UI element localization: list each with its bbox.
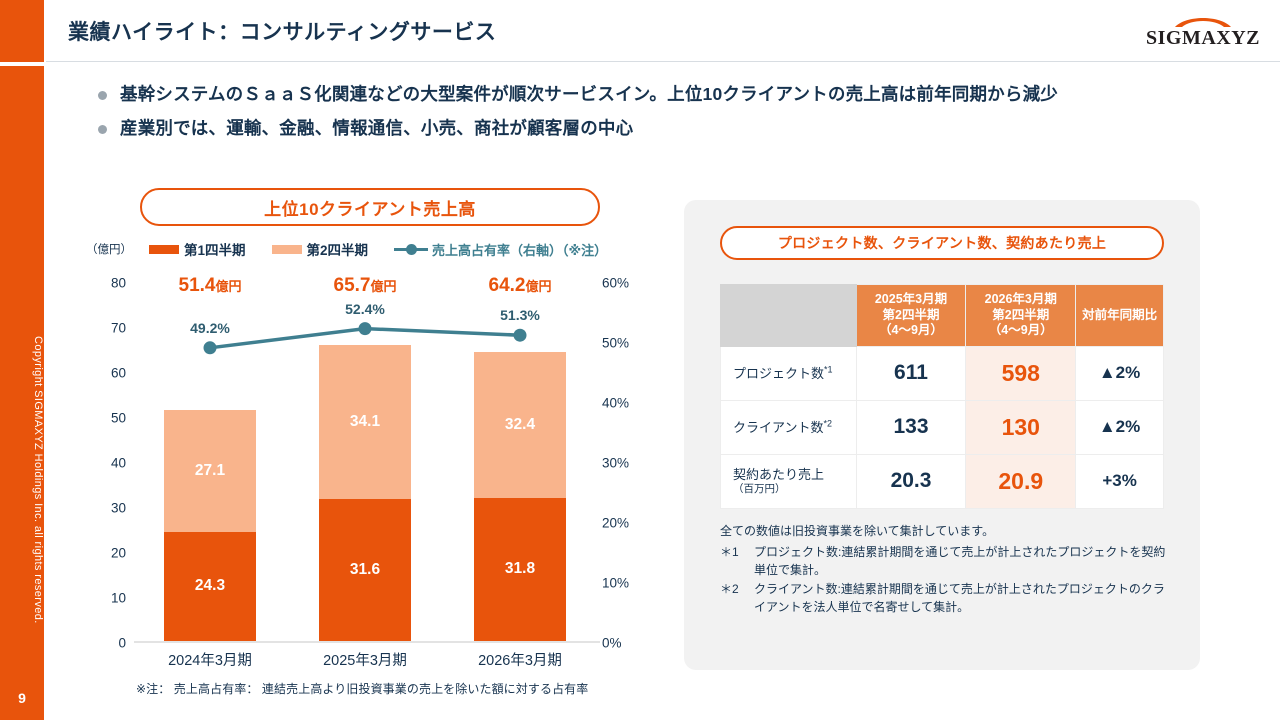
left-rail-top-block: [0, 0, 44, 62]
cell-prev-value: 20.3: [856, 454, 966, 508]
y-axis-left-tick: 20: [92, 546, 126, 561]
note-key: ＊2: [720, 580, 754, 617]
y-axis-left: 01020304050607080: [86, 283, 126, 643]
metrics-panel: プロジェクト数、クライアント数、契約あたり売上 2025年3月期 第2四半期 （…: [684, 200, 1200, 670]
chart-legend: （億円） 第1四半期 第2四半期 売上高占有率（右軸）（※注）: [86, 238, 646, 260]
chart-unit-label: （億円）: [86, 241, 132, 257]
bullet-text: 産業別では、運輸、金融、情報通信、小売、商社が顧客層の中心: [120, 116, 633, 141]
metrics-table: 2025年3月期 第2四半期 （4～9月） 2026年3月期 第2四半期 （4～…: [720, 284, 1164, 509]
metrics-table-head: 2025年3月期 第2四半期 （4～9月） 2026年3月期 第2四半期 （4～…: [721, 285, 1164, 347]
x-axis-label: 2024年3月期: [130, 649, 290, 670]
note-key: ＊1: [720, 543, 754, 580]
legend-item-share: 売上高占有率（右軸）（※注）: [394, 240, 607, 259]
y-axis-left-tick: 50: [92, 411, 126, 426]
metrics-table-body: プロジェクト数*1611598▲2%クライアント数*2133130▲2%契約あた…: [721, 346, 1164, 508]
y-axis-left-tick: 0: [92, 636, 126, 651]
y-axis-left-tick: 60: [92, 366, 126, 381]
logo-arc-icon: [1174, 14, 1232, 28]
header-cur-line1: 2026年3月期: [968, 292, 1073, 308]
y-axis-right-tick: 30%: [602, 456, 648, 471]
bullet-dot-icon: [98, 91, 107, 100]
logo-wordmark: SIGMAXYZ: [1144, 27, 1262, 50]
chart-title-badge: 上位10クライアント売上高: [140, 188, 600, 226]
share-point-label: 49.2%: [155, 320, 265, 336]
y-axis-left-tick: 70: [92, 321, 126, 336]
note-text: クライアント数:連結累計期間を通じて売上が計上されたプロジェクトのクライアントを…: [754, 580, 1172, 617]
cell-prev-value: 133: [856, 400, 966, 454]
cell-yoy-value: +3%: [1076, 454, 1164, 508]
header-cur-line2: 第2四半期: [968, 308, 1073, 324]
cell-yoy-value: ▲2%: [1076, 400, 1164, 454]
table-row: 契約あたり売上（百万円）20.320.9+3%: [721, 454, 1164, 508]
header-prev-line3: （4～9月）: [859, 323, 964, 339]
y-axis-left-tick: 30: [92, 501, 126, 516]
legend-label-share: 売上高占有率（右軸）（※注）: [432, 240, 607, 259]
sigmaxyz-logo: SIGMAXYZ: [1144, 12, 1262, 52]
y-axis-right: 0%10%20%30%40%50%60%: [602, 283, 648, 643]
share-point-label: 51.3%: [465, 307, 575, 323]
x-axis-label: 2025年3月期: [285, 649, 445, 670]
table-row: クライアント数*2133130▲2%: [721, 400, 1164, 454]
header-prev-line2: 第2四半期: [859, 308, 964, 324]
bullet-dot-icon: [98, 125, 107, 134]
sales-chart-block: 上位10クライアント売上高 （億円） 第1四半期 第2四半期 売上高占有率（右軸…: [86, 188, 646, 698]
cell-yoy-value: ▲2%: [1076, 346, 1164, 400]
bar-total-label: 65.7億円: [285, 275, 445, 297]
note-item: ＊2 クライアント数:連結累計期間を通じて売上が計上されたプロジェクトのクライア…: [720, 580, 1172, 617]
table-row: プロジェクト数*1611598▲2%: [721, 346, 1164, 400]
bar-total-label: 51.4億円: [130, 275, 290, 297]
header-cell-current-period: 2026年3月期 第2四半期 （4～9月）: [966, 285, 1076, 347]
legend-label-q2: 第2四半期: [307, 239, 369, 259]
y-axis-right-tick: 60%: [602, 276, 648, 291]
metrics-table-wrap: 2025年3月期 第2四半期 （4～9月） 2026年3月期 第2四半期 （4～…: [720, 284, 1164, 509]
share-point-label: 52.4%: [310, 301, 420, 317]
metrics-notes: 全ての数値は旧投資事業を除いて集計しています。 ＊1 プロジェクト数:連結累計期…: [720, 522, 1172, 617]
y-axis-right-tick: 10%: [602, 576, 648, 591]
x-axis-label: 2026年3月期: [440, 649, 600, 670]
metrics-title-badge: プロジェクト数、クライアント数、契約あたり売上: [720, 226, 1164, 260]
share-line-point: [359, 322, 372, 335]
bullet-list: 基幹システムのＳａａＳ化関連などの大型案件が順次サービスイン。上位10クライアン…: [98, 82, 1218, 151]
chart-footnote: ※注： 売上高占有率： 連結売上高より旧投資事業の売上を除いた額に対する占有率: [136, 680, 588, 697]
page-title: 業績ハイライト：コンサルティングサービス: [68, 16, 496, 46]
row-label: クライアント数*2: [721, 400, 857, 454]
cell-current-value: 130: [966, 400, 1076, 454]
header-cell-blank: [721, 285, 857, 347]
share-line-series: [134, 283, 600, 643]
page-number: 9: [0, 690, 44, 706]
header-prev-line1: 2025年3月期: [859, 292, 964, 308]
legend-line-marker-icon: [394, 243, 428, 255]
y-axis-left-tick: 40: [92, 456, 126, 471]
header-divider: [46, 61, 1280, 62]
y-axis-right-tick: 50%: [602, 336, 648, 351]
notes-lead: 全ての数値は旧投資事業を除いて集計しています。: [720, 522, 1172, 541]
row-label: 契約あたり売上（百万円）: [721, 454, 857, 508]
legend-item-q1: 第1四半期: [149, 239, 246, 259]
bullet-text: 基幹システムのＳａａＳ化関連などの大型案件が順次サービスイン。上位10クライアン…: [120, 82, 1058, 107]
copyright-text: Copyright SIGMAXYZ Holdings Inc. all rig…: [0, 330, 44, 630]
bullet-item: 基幹システムのＳａａＳ化関連などの大型案件が順次サービスイン。上位10クライアン…: [98, 82, 1218, 107]
cell-prev-value: 611: [856, 346, 966, 400]
bar-total-label: 64.2億円: [440, 275, 600, 297]
share-line-point: [514, 329, 527, 342]
y-axis-left-tick: 80: [92, 276, 126, 291]
y-axis-right-tick: 0%: [602, 636, 648, 651]
table-header-row: 2025年3月期 第2四半期 （4～9月） 2026年3月期 第2四半期 （4～…: [721, 285, 1164, 347]
note-text: プロジェクト数:連結累計期間を通じて売上が計上されたプロジェクトを契約単位で集計…: [754, 543, 1172, 580]
header-cell-prev-period: 2025年3月期 第2四半期 （4～9月）: [856, 285, 966, 347]
legend-label-q1: 第1四半期: [184, 239, 246, 259]
row-label: プロジェクト数*1: [721, 346, 857, 400]
header-cur-line3: （4～9月）: [968, 323, 1073, 339]
legend-swatch-q2-icon: [272, 245, 302, 254]
y-axis-right-tick: 40%: [602, 396, 648, 411]
legend-item-q2: 第2四半期: [272, 239, 369, 259]
header-cell-yoy: 対前年同期比: [1076, 285, 1164, 347]
y-axis-left-tick: 10: [92, 591, 126, 606]
legend-swatch-q1-icon: [149, 245, 179, 254]
bullet-item: 産業別では、運輸、金融、情報通信、小売、商社が顧客層の中心: [98, 116, 1218, 141]
share-line-point: [204, 341, 217, 354]
cell-current-value: 598: [966, 346, 1076, 400]
y-axis-right-tick: 20%: [602, 516, 648, 531]
slide-root: Copyright SIGMAXYZ Holdings Inc. all rig…: [0, 0, 1280, 720]
chart-plot-area: 01020304050607080 0%10%20%30%40%50%60% 2…: [86, 283, 646, 698]
note-item: ＊1 プロジェクト数:連結累計期間を通じて売上が計上されたプロジェクトを契約単位…: [720, 543, 1172, 580]
cell-current-value: 20.9: [966, 454, 1076, 508]
